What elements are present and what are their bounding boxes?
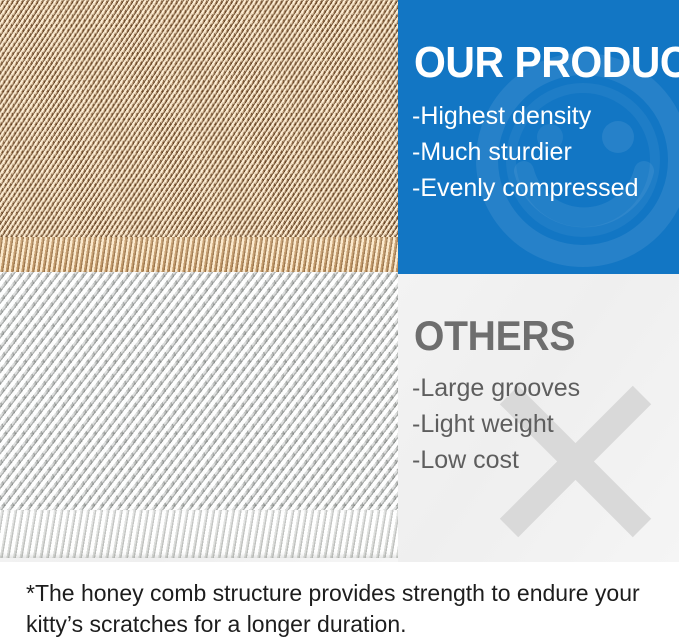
feature-item: -Evenly compressed bbox=[412, 170, 638, 206]
gray-honeycomb-edge bbox=[0, 510, 420, 558]
others-panel: OTHERS -Large grooves -Light weight -Low… bbox=[398, 274, 679, 562]
kraft-honeycomb-edge bbox=[0, 237, 420, 277]
gray-honeycomb-slab bbox=[0, 272, 420, 562]
feature-item: -Highest density bbox=[412, 98, 638, 134]
our-product-feature-list: -Highest density -Much sturdier -Evenly … bbox=[412, 98, 638, 206]
others-feature-list: -Large grooves -Light weight -Low cost bbox=[412, 370, 580, 478]
feature-item: -Large grooves bbox=[412, 370, 580, 406]
kraft-honeycomb-surface bbox=[0, 0, 420, 246]
kraft-honeycomb-slab bbox=[0, 0, 420, 280]
comparison-infographic: OUR PRODUCT -Highest density -Much sturd… bbox=[0, 0, 679, 644]
gray-honeycomb-surface bbox=[0, 272, 420, 524]
feature-item: -Low cost bbox=[412, 442, 580, 478]
our-product-panel: OUR PRODUCT -Highest density -Much sturd… bbox=[398, 0, 679, 274]
caption-area: *The honey comb structure provides stren… bbox=[0, 562, 679, 644]
feature-item: -Light weight bbox=[412, 406, 580, 442]
others-title: OTHERS bbox=[414, 314, 575, 358]
caption-text: *The honey comb structure provides stren… bbox=[26, 578, 656, 640]
our-product-title: OUR PRODUCT bbox=[414, 40, 679, 86]
feature-item: -Much sturdier bbox=[412, 134, 638, 170]
